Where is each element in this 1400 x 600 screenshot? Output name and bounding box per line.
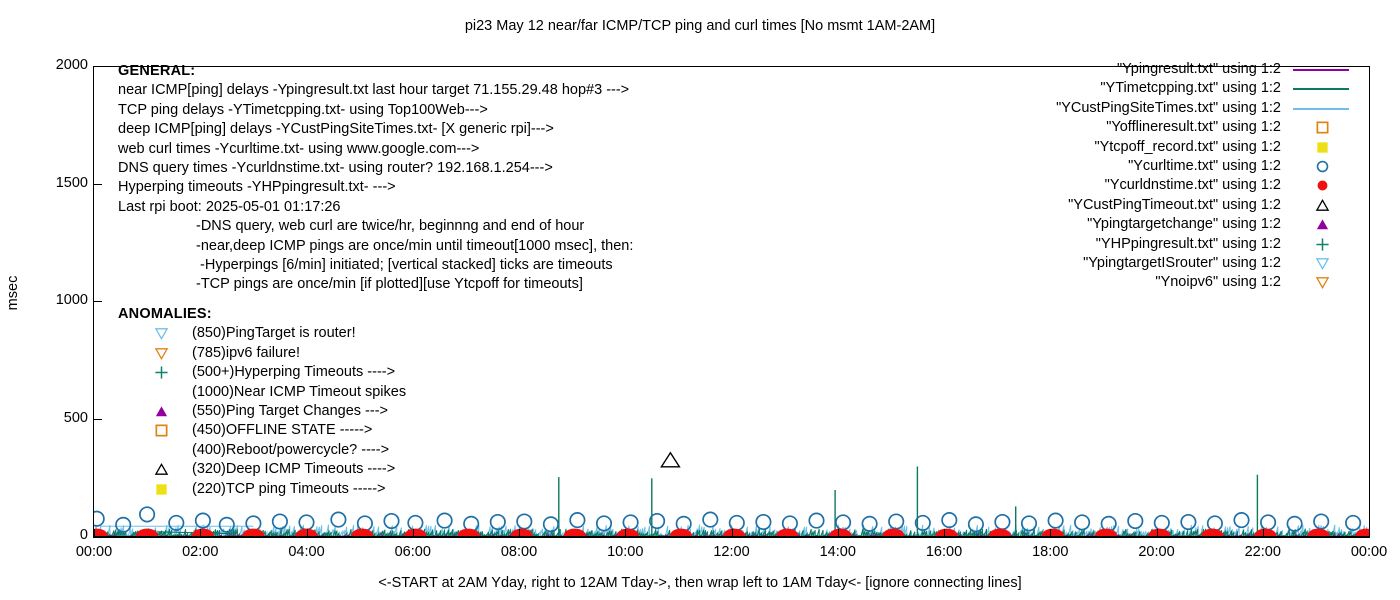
x-tick-mark <box>1263 529 1264 538</box>
x-tick-label: 04:00 <box>267 544 347 560</box>
legend-label: "YCustPingSiteTimes.txt" using 1:2 <box>1056 99 1281 118</box>
legend-label: "Ycurldnstime.txt" using 1:2 <box>1105 176 1281 195</box>
square-filled-icon <box>154 482 169 497</box>
x-tick-mark <box>413 529 414 538</box>
x-tick-label: 16:00 <box>904 544 984 560</box>
x-tick-mark <box>1157 529 1158 538</box>
anomaly-label: (400)Reboot/powercycle? ----> <box>192 441 389 460</box>
legend-entry[interactable]: "Yofflineresult.txt" using 1:2 <box>935 118 1355 137</box>
y-tick-mark <box>93 184 102 185</box>
general-line: TCP ping delays -YTimetcpping.txt- using… <box>118 101 633 120</box>
legend-key <box>1287 157 1355 176</box>
legend-entry[interactable]: "Ycurltime.txt" using 1:2 <box>935 157 1355 176</box>
y-tick-label: 1500 <box>12 175 88 191</box>
y-tick-label: 2000 <box>12 57 88 73</box>
anomaly-row: (550)Ping Target Changes ---> <box>118 402 406 421</box>
legend-entry[interactable]: "Ycurldnstime.txt" using 1:2 <box>935 176 1355 195</box>
x-tick-mark <box>625 529 626 538</box>
triangle-up-filled-icon <box>154 404 169 419</box>
general-indented-line: -near,deep ICMP pings are once/min until… <box>196 237 633 256</box>
x-tick-label: 22:00 <box>1223 544 1303 560</box>
anomalies-annotation-block: ANOMALIES: (850)PingTarget is router!(78… <box>118 305 406 499</box>
general-indented-line: -DNS query, web curl are twice/hr, begin… <box>196 217 633 236</box>
circle-filled-icon <box>1315 178 1330 193</box>
general-line: web curl times -Ycurltime.txt- using www… <box>118 140 633 159</box>
square-open-icon <box>1315 120 1330 135</box>
x-tick-mark <box>838 529 839 538</box>
x-tick-mark <box>732 529 733 538</box>
legend-entry[interactable]: "Ypingresult.txt" using 1:2 <box>935 60 1355 79</box>
x-tick-label: 06:00 <box>373 544 453 560</box>
chart-legend: "Ypingresult.txt" using 1:2"YTimetcpping… <box>935 60 1355 293</box>
legend-label: "Ynoipv6" using 1:2 <box>1155 273 1281 292</box>
x-tick-label: 02:00 <box>160 544 240 560</box>
general-annotation-block: GENERAL: near ICMP[ping] delays -Ypingre… <box>118 62 633 295</box>
x-axis: 00:0002:0004:0006:0008:0010:0012:0014:00… <box>0 544 1400 566</box>
x-tick-label: 00:00 <box>1329 544 1400 560</box>
general-line: Hyperping timeouts -YHPpingresult.txt- -… <box>118 178 633 197</box>
legend-entry[interactable]: "Ynoipv6" using 1:2 <box>935 273 1355 292</box>
x-tick-label: 14:00 <box>798 544 878 560</box>
circle-open-icon <box>1315 159 1330 174</box>
y-tick-label: 0 <box>12 527 88 543</box>
general-indented-line: -TCP pings are once/min [if plotted][use… <box>196 275 633 294</box>
legend-entry[interactable]: "YTimetcpping.txt" using 1:2 <box>935 79 1355 98</box>
anomaly-label: (550)Ping Target Changes ---> <box>192 402 388 421</box>
legend-label: "YCustPingTimeout.txt" using 1:2 <box>1068 196 1281 215</box>
x-tick-label: 00:00 <box>54 544 134 560</box>
y-tick-label: 1000 <box>12 292 88 308</box>
square-filled-icon <box>1315 140 1330 155</box>
triangle-up-filled-icon <box>1315 217 1330 232</box>
plus-icon <box>154 365 169 380</box>
triangle-down-open-icon <box>1315 256 1330 271</box>
anomalies-list: (850)PingTarget is router!(785)ipv6 fail… <box>118 324 406 499</box>
legend-label: "Yofflineresult.txt" using 1:2 <box>1106 118 1281 137</box>
legend-key <box>1287 79 1355 98</box>
legend-line-sample <box>1293 69 1349 71</box>
page-title: pi23 May 12 near/far ICMP/TCP ping and c… <box>0 18 1400 34</box>
general-indented-lines: -DNS query, web curl are twice/hr, begin… <box>118 217 633 295</box>
legend-line-sample <box>1293 108 1349 110</box>
anomaly-row: (500+)Hyperping Timeouts ----> <box>118 363 406 382</box>
legend-label: "Ypingtargetchange" using 1:2 <box>1087 215 1281 234</box>
legend-label: "YpingtargetISrouter" using 1:2 <box>1083 254 1281 273</box>
y-tick-mark <box>93 419 102 420</box>
triangle-down-open-icon <box>154 346 169 361</box>
legend-label: "Ypingresult.txt" using 1:2 <box>1117 60 1281 79</box>
y-tick-mark <box>93 66 102 67</box>
y-axis-title: msec <box>5 263 21 323</box>
plus-icon <box>1315 237 1330 252</box>
legend-key <box>1287 254 1355 273</box>
general-heading: GENERAL: <box>118 62 633 81</box>
anomaly-label: (220)TCP ping Timeouts -----> <box>192 480 386 499</box>
triangle-down-open-icon <box>154 326 169 341</box>
legend-key <box>1287 235 1355 254</box>
anomaly-label: (450)OFFLINE STATE -----> <box>192 421 372 440</box>
legend-key <box>1287 176 1355 195</box>
general-line: DNS query times -Ycurldnstime.txt- using… <box>118 159 633 178</box>
x-tick-label: 12:00 <box>692 544 772 560</box>
triangle-down-open-icon <box>1315 275 1330 290</box>
legend-key <box>1287 99 1355 118</box>
anomaly-row: (450)OFFLINE STATE -----> <box>118 421 406 440</box>
x-tick-mark <box>1369 529 1370 538</box>
general-line: deep ICMP[ping] delays -YCustPingSiteTim… <box>118 120 633 139</box>
legend-key <box>1287 60 1355 79</box>
legend-label: "Ycurltime.txt" using 1:2 <box>1128 157 1281 176</box>
anomaly-row: (320)Deep ICMP Timeouts ----> <box>118 460 406 479</box>
legend-label: "Ytcpoff_record.txt" using 1:2 <box>1094 138 1281 157</box>
legend-line-sample <box>1293 88 1349 90</box>
x-tick-label: 18:00 <box>1010 544 1090 560</box>
legend-label: "YHPpingresult.txt" using 1:2 <box>1096 235 1281 254</box>
anomaly-label: (1000)Near ICMP Timeout spikes <box>192 383 406 402</box>
legend-entry[interactable]: "YCustPingSiteTimes.txt" using 1:2 <box>935 99 1355 118</box>
legend-key <box>1287 118 1355 137</box>
anomaly-label: (500+)Hyperping Timeouts ----> <box>192 363 395 382</box>
anomaly-label: (850)PingTarget is router! <box>192 324 356 343</box>
x-tick-label: 08:00 <box>479 544 559 560</box>
x-tick-mark <box>1050 529 1051 538</box>
anomaly-row: (220)TCP ping Timeouts -----> <box>118 480 406 499</box>
legend-entry[interactable]: "Ypingtargetchange" using 1:2 <box>935 215 1355 234</box>
x-axis-title: <-START at 2AM Yday, right to 12AM Tday-… <box>0 575 1400 591</box>
anomaly-row: (400)Reboot/powercycle? ----> <box>118 441 406 460</box>
x-tick-label: 10:00 <box>585 544 665 560</box>
x-tick-label: 20:00 <box>1117 544 1197 560</box>
general-lines: near ICMP[ping] delays -Ypingresult.txt … <box>118 81 633 217</box>
anomaly-label: (320)Deep ICMP Timeouts ----> <box>192 460 395 479</box>
x-tick-mark <box>94 529 95 538</box>
legend-key <box>1287 196 1355 215</box>
legend-key <box>1287 138 1355 157</box>
anomaly-row: (785)ipv6 failure! <box>118 344 406 363</box>
general-line: Last rpi boot: 2025-05-01 01:17:26 <box>118 198 633 217</box>
x-tick-mark <box>519 529 520 538</box>
square-open-icon <box>154 423 169 438</box>
anomaly-row: (850)PingTarget is router! <box>118 324 406 343</box>
legend-entry[interactable]: "YCustPingTimeout.txt" using 1:2 <box>935 196 1355 215</box>
triangle-up-open-icon <box>154 462 169 477</box>
anomalies-heading: ANOMALIES: <box>118 305 406 324</box>
legend-entry[interactable]: "YpingtargetISrouter" using 1:2 <box>935 254 1355 273</box>
legend-entry[interactable]: "Ytcpoff_record.txt" using 1:2 <box>935 138 1355 157</box>
triangle-up-open-icon <box>1315 198 1330 213</box>
general-indented-line: -Hyperpings [6/min] initiated; [vertical… <box>196 256 633 275</box>
legend-label: "YTimetcpping.txt" using 1:2 <box>1100 79 1281 98</box>
x-tick-mark <box>200 529 201 538</box>
legend-entry[interactable]: "YHPpingresult.txt" using 1:2 <box>935 235 1355 254</box>
legend-key <box>1287 215 1355 234</box>
y-tick-label: 500 <box>12 410 88 426</box>
anomaly-row: (1000)Near ICMP Timeout spikes <box>118 383 406 402</box>
y-tick-mark <box>93 301 102 302</box>
legend-key <box>1287 273 1355 292</box>
x-tick-mark <box>944 529 945 538</box>
anomaly-label: (785)ipv6 failure! <box>192 344 300 363</box>
x-tick-mark <box>307 529 308 538</box>
general-line: near ICMP[ping] delays -Ypingresult.txt … <box>118 81 633 100</box>
